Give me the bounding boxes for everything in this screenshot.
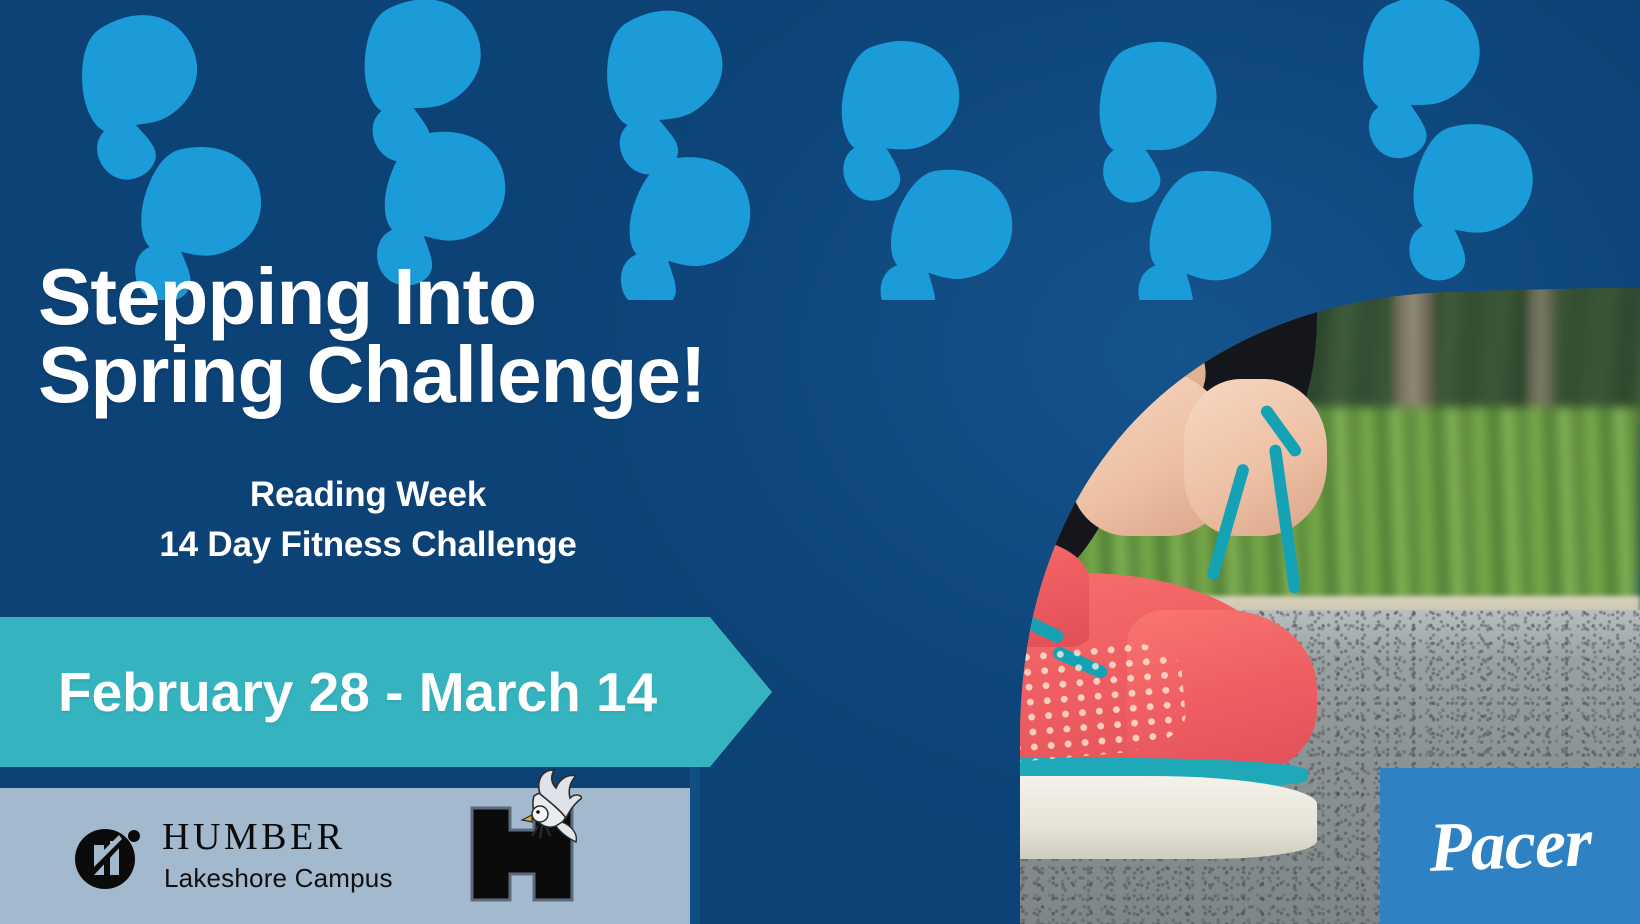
humber-campus-text: Lakeshore Campus: [164, 863, 393, 894]
poster-headline: Stepping Into Spring Challenge!: [38, 258, 858, 415]
poster-subheadline: Reading Week 14 Day Fitness Challenge: [38, 470, 698, 569]
humber-name-text: HUMBER: [162, 818, 393, 858]
headline-line-2: Spring Challenge!: [38, 336, 858, 414]
promotional-poster: Stepping Into Spring Challenge! Reading …: [0, 0, 1640, 924]
banner-divider-strip: [0, 767, 700, 788]
fitness-tracker-screen: [962, 328, 1036, 430]
pacer-wordmark: Pacer: [1428, 803, 1593, 889]
humber-logo: HUMBER Lakeshore Campus: [72, 788, 393, 924]
headline-line-1: Stepping Into: [38, 252, 536, 341]
humber-wordmark: HUMBER Lakeshore Campus: [162, 818, 393, 895]
pacer-logo: Pacer: [1380, 768, 1640, 924]
hawks-h-eagle-icon: [462, 768, 582, 908]
date-range-text: February 28 - March 14: [0, 660, 657, 724]
photo-background-shoe: [757, 536, 919, 656]
subhead-line-2: 14 Day Fitness Challenge: [38, 520, 698, 570]
humber-circle-h-icon: [72, 819, 146, 893]
date-banner: February 28 - March 14: [0, 617, 772, 767]
photo-hand: [1184, 379, 1327, 536]
footer-right-edge: [690, 767, 700, 924]
subhead-line-1: Reading Week: [38, 470, 698, 520]
shoe-lace: [956, 569, 1017, 608]
shoe-lace: [910, 590, 939, 644]
photo-background-shoe-sole: [747, 610, 928, 665]
fitness-tracker-band: [923, 292, 1102, 475]
running-shoe-sole: [823, 776, 1317, 859]
